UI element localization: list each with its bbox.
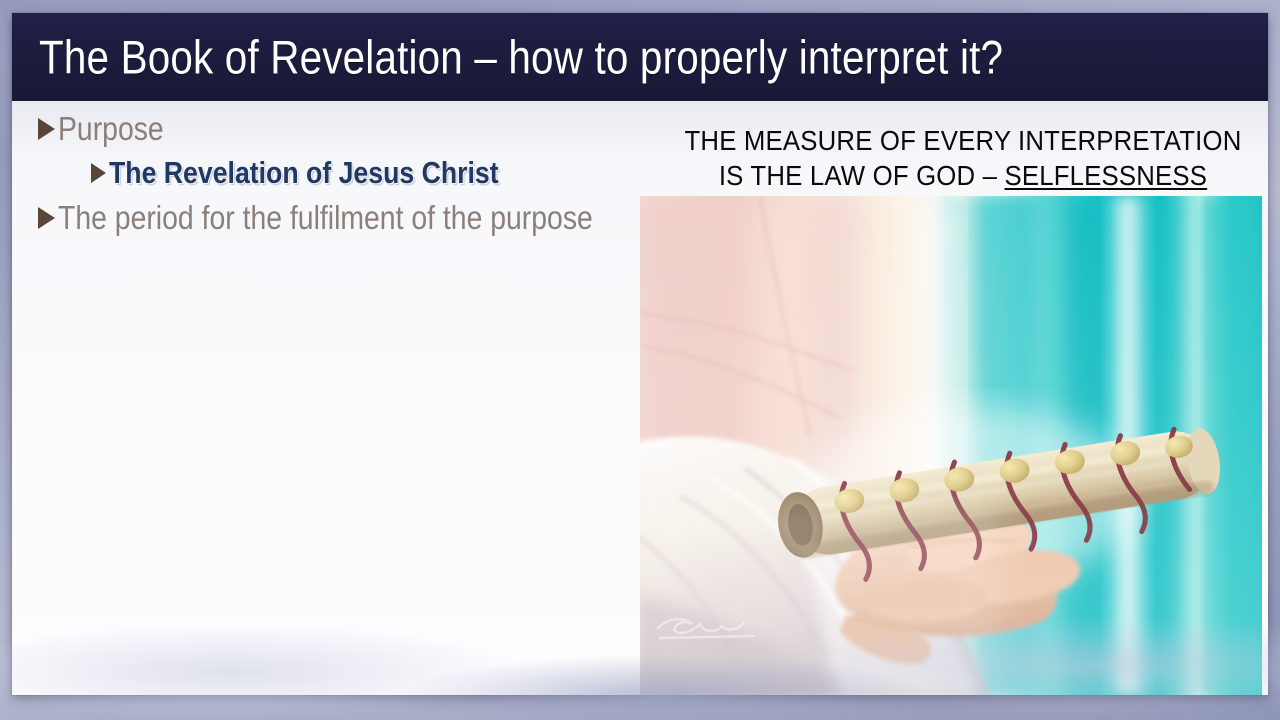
scroll-artwork-image [640, 196, 1262, 695]
scroll-artwork-svg [640, 196, 1262, 695]
bullet-item-revelation-of-jesus-christ: The Revelation of Jesus Christ [91, 153, 638, 193]
presentation-slide: The Book of Revelation – how to properly… [12, 13, 1268, 695]
slide-title-bar: The Book of Revelation – how to properly… [12, 13, 1268, 101]
bullet-label: Purpose [58, 109, 164, 149]
artwork-caption: THE MEASURE OF EVERY INTERPRETATION IS T… [652, 123, 1268, 193]
bullet-item-period-of-fulfilment: The period for the fulfilment of the pur… [38, 198, 638, 238]
bullet-triangle-icon [91, 163, 106, 183]
bullet-label-emphasis: The Revelation of Jesus Christ [109, 153, 499, 193]
caption-line-2-prefix: IS THE LAW OF GOD – [719, 160, 1005, 191]
bullet-label: The period for the fulfilment of the pur… [58, 198, 593, 238]
caption-line-1: THE MEASURE OF EVERY INTERPRETATION [677, 123, 1249, 158]
slide-title: The Book of Revelation – how to properly… [39, 34, 1003, 81]
bullet-item-purpose: Purpose [38, 109, 638, 149]
caption-keyword-selflessness: SELFLESSNESS [1005, 160, 1208, 191]
bullet-triangle-icon [38, 118, 55, 140]
bullet-triangle-icon [38, 207, 55, 229]
slide-viewer: The Book of Revelation – how to properly… [0, 0, 1280, 720]
caption-line-2: IS THE LAW OF GOD – SELFLESSNESS [677, 158, 1249, 193]
bullet-list: Purpose The Revelation of Jesus Christ T… [38, 109, 638, 238]
